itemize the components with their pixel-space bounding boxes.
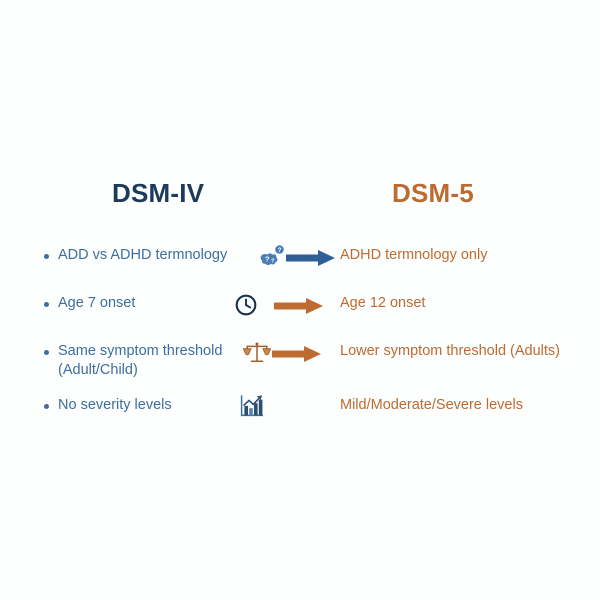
bullet-icon — [44, 404, 49, 409]
left-cell: Same symptom threshold (Adult/Child) — [44, 342, 262, 380]
transition-arrow-orange — [274, 297, 326, 315]
right-item-label: Age 12 onset — [340, 294, 596, 313]
brain-question-icon: ? ? ? — [258, 244, 286, 270]
right-cell: Age 12 onset — [340, 294, 596, 313]
svg-text:?: ? — [265, 255, 270, 264]
right-item-label: ADHD termnology only — [340, 246, 596, 265]
transition-arrow-orange — [272, 345, 324, 363]
clock-icon — [232, 292, 260, 318]
left-cell: ADD vs ADHD termnology — [44, 246, 262, 265]
right-cell: Mild/Moderate/Severe levels — [340, 396, 596, 415]
bar-chart-icon — [238, 392, 266, 420]
transition-arrow-blue — [286, 249, 338, 267]
comparison-row: No severity levels Mild/Moderate/S — [0, 396, 600, 444]
left-cell: Age 7 onset — [44, 294, 262, 313]
comparison-row: Age 7 onset Age 12 onset — [0, 294, 600, 342]
left-item-label: No severity levels — [58, 396, 172, 415]
right-item-label: Mild/Moderate/Severe levels — [340, 396, 596, 415]
svg-text:?: ? — [271, 258, 274, 264]
bullet-icon — [44, 302, 49, 307]
left-cell: No severity levels — [44, 396, 262, 415]
right-cell: ADHD termnology only — [340, 246, 596, 265]
column-headings: DSM-IV DSM-5 — [0, 178, 600, 218]
comparison-rows: ADD vs ADHD termnology ? ? ? — [0, 246, 600, 444]
heading-dsm-iv: DSM-IV — [112, 178, 204, 209]
balance-scale-icon — [243, 340, 271, 366]
right-item-label: Lower symptom threshold (Adults) — [340, 342, 596, 361]
left-item-label: ADD vs ADHD termnology — [58, 246, 227, 265]
left-item-label: Age 7 onset — [58, 294, 135, 313]
svg-text:?: ? — [278, 247, 282, 254]
bullet-icon — [44, 350, 49, 355]
comparison-row: ADD vs ADHD termnology ? ? ? — [0, 246, 600, 294]
heading-dsm-5: DSM-5 — [392, 178, 474, 209]
comparison-slide: DSM-IV DSM-5 ADD vs ADHD termnology ? ? … — [0, 0, 600, 600]
bullet-icon — [44, 254, 49, 259]
left-item-label: Same symptom threshold (Adult/Child) — [58, 342, 222, 380]
right-cell: Lower symptom threshold (Adults) — [340, 342, 596, 361]
comparison-row: Same symptom threshold (Adult/Child) — [0, 342, 600, 396]
